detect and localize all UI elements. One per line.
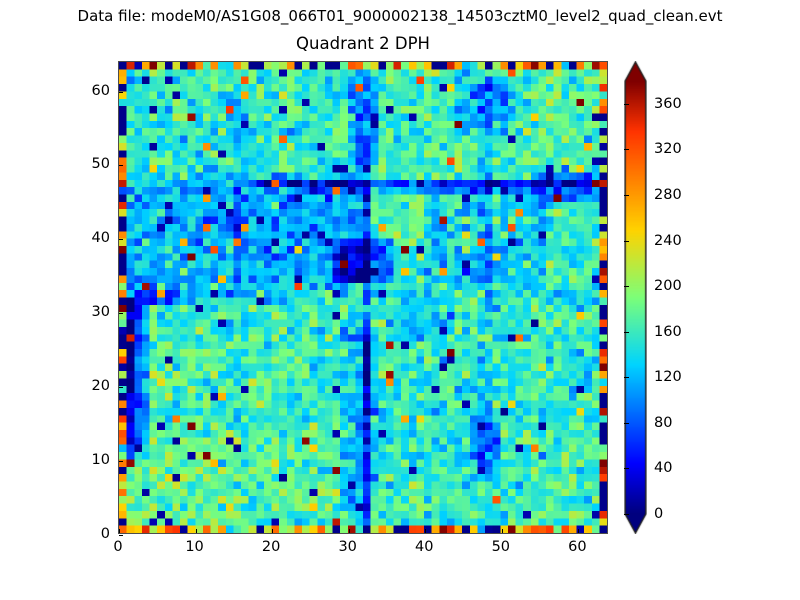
y-tick-mark [119,387,123,388]
y-tick-mark [119,535,123,536]
colorbar-tick-mark [624,468,629,469]
data-file-label: Data file: modeM0/AS1G08_066T01_90000021… [0,7,800,26]
x-tick-label: 20 [262,539,280,555]
colorbar-tick-label: 200 [654,278,682,294]
y-tick-mark [119,461,123,462]
colorbar-tick-label: 360 [654,96,682,112]
colorbar-tick-label: 160 [654,324,682,340]
y-tick-label: 20 [92,378,110,394]
y-tick-label: 10 [92,452,110,468]
colorbar-tick-mark [624,423,629,424]
y-tick-label: 40 [92,230,110,246]
colorbar-tick-mark [624,149,629,150]
colorbar-tick-label: 120 [654,369,682,385]
y-tick-mark [119,239,123,240]
x-tick-mark [272,529,273,533]
y-tick-label: 50 [92,156,110,172]
colorbar-tick-mark [624,377,629,378]
x-tick-mark [578,529,579,533]
heatmap-axes [118,61,608,534]
colorbar-tick-mark [624,241,629,242]
y-tick-mark [119,313,123,314]
colorbar-tick-mark [624,332,629,333]
x-tick-label: 10 [185,539,203,555]
x-tick-mark [502,529,503,533]
colorbar-tick-label: 280 [654,187,682,203]
x-tick-mark [196,529,197,533]
colorbar-gradient [624,61,647,534]
colorbar-tick-mark [624,514,629,515]
x-tick-mark [425,529,426,533]
detector-heatmap-image [119,62,607,533]
x-tick-label: 50 [492,539,510,555]
colorbar-tick-mark [624,195,629,196]
colorbar-tick-label: 240 [654,233,682,249]
colorbar-tick-label: 80 [654,415,672,431]
y-tick-mark [119,92,123,93]
colorbar-tick-label: 40 [654,460,672,476]
colorbar [624,61,647,534]
x-tick-label: 40 [415,539,433,555]
x-tick-mark [349,529,350,533]
colorbar-tick-label: 320 [654,141,682,157]
plot-title: Quadrant 2 DPH [118,33,608,54]
x-tick-label: 0 [113,539,122,555]
x-tick-mark [119,529,120,533]
y-tick-label: 60 [92,83,110,99]
y-tick-mark [119,165,123,166]
colorbar-tick-mark [624,286,629,287]
y-tick-label: 30 [92,304,110,320]
x-tick-label: 60 [568,539,586,555]
colorbar-tick-mark [624,104,629,105]
y-tick-label: 0 [101,526,110,542]
colorbar-tick-label: 0 [654,506,663,522]
y-axis-tick-labels: 0102030405060 [60,0,110,600]
x-tick-label: 30 [338,539,356,555]
